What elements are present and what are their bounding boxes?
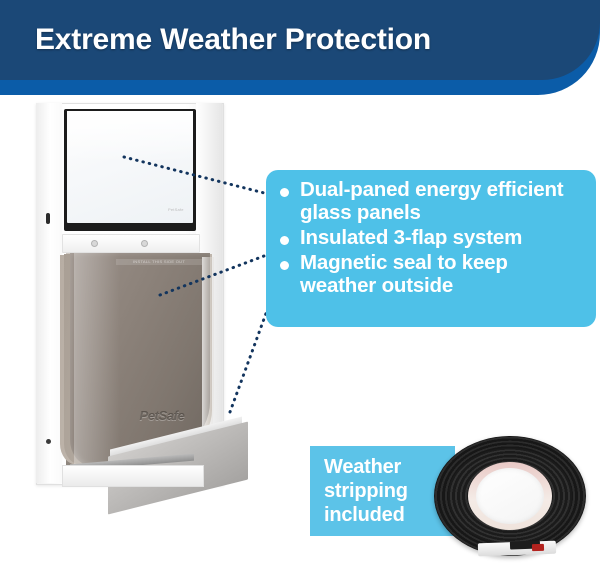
feature-item: Magnetic seal to keep weather outside (266, 251, 596, 297)
frame-slot-detail (46, 213, 50, 224)
feature-label: Magnetic seal to keep weather outside (300, 251, 588, 297)
bullet-dot-icon (280, 261, 289, 270)
feature-item: Dual-paned energy efficient glass panels (266, 178, 596, 224)
feature-label: Insulated 3-flap system (300, 226, 522, 249)
bullet-dot-icon (280, 188, 289, 197)
tape-roll-core (476, 468, 544, 524)
page-title: Extreme Weather Protection (35, 0, 431, 80)
features-panel: Dual-paned energy efficient glass panels… (266, 170, 596, 327)
weather-stripping-roll-image (432, 434, 592, 562)
door-frame-left-stile (36, 103, 62, 483)
glass-brand-mark: PetSafe (168, 207, 184, 212)
bullet-dot-icon (280, 236, 289, 245)
tape-roll-tail-marker (532, 544, 544, 551)
door-bottom-rail (62, 465, 204, 487)
frame-screw-detail (46, 439, 51, 444)
feature-label: Dual-paned energy efficient glass panels (300, 178, 588, 224)
flap-instruction-band: INSTALL THIS SIDE OUT (116, 259, 202, 265)
rail-screw-left (91, 240, 98, 247)
door-mid-rail (62, 234, 200, 253)
glass-panel-reflection (67, 111, 193, 163)
flap-highlight (74, 253, 120, 465)
infographic-canvas: Extreme Weather Protection PetSafe INSTA… (0, 0, 600, 564)
rail-screw-right (141, 240, 148, 247)
petsafe-logo: PetSafe (122, 405, 202, 425)
feature-item: Insulated 3-flap system (266, 226, 596, 249)
pet-door-product-image: PetSafe INSTALL THIS SIDE OUT PetSafe (18, 103, 278, 503)
